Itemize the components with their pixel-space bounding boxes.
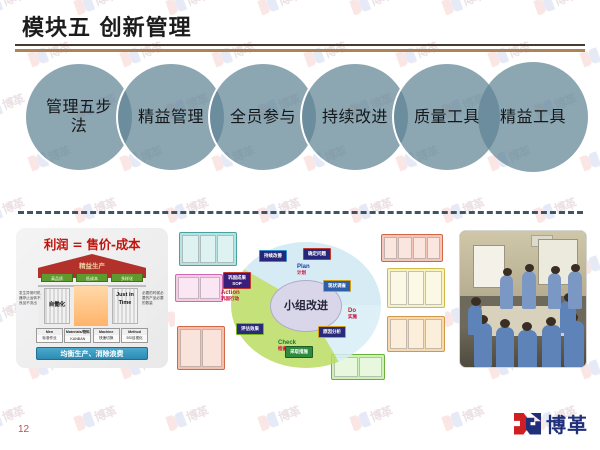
house-pillar-left-label: 自働化 [44, 300, 70, 308]
house-roof-label: 精益生产 [38, 260, 146, 270]
pdca-step-3[interactable]: 原因分析 [318, 326, 346, 338]
photo-person-head [503, 268, 512, 276]
pdca-step-5[interactable]: 评估效果 [236, 323, 264, 335]
watermark-logo: 博革 [348, 190, 403, 225]
house-base-cell-sub: 快速切换 [94, 335, 119, 342]
photo-person-head [525, 264, 534, 272]
topic-circle-6[interactable]: 精益工具 [478, 62, 588, 172]
photo-person [542, 325, 561, 368]
watermark-logo: 博革 [256, 190, 311, 225]
house-base-cell: Machine 快速切换 [93, 328, 120, 343]
topic-circle-label: 精益管理 [134, 108, 208, 127]
house-base-cell: Method 5S/目视化 [121, 328, 148, 343]
watermark-logo: 博革 [256, 398, 311, 433]
pdca-step-1[interactable]: 确定问题 [303, 248, 331, 260]
bg-logo-icon [514, 413, 541, 435]
house-note-left: 发生异常时机器停止运转不良品不流出 [19, 291, 43, 306]
qc-tool-chart-group [175, 274, 223, 302]
house-base-cell-sub: 5S/目视化 [122, 335, 147, 342]
topic-circle-label: 精益工具 [496, 108, 570, 127]
house-base-cell: Materials/物料 KANBAN [64, 328, 91, 343]
watermark-logo: 博革 [72, 190, 127, 225]
watermark-logo: 博革 [164, 398, 219, 433]
topic-circle-row: 管理五步法 精益管理 全员参与 持续改进 质量工具 精益工具 [0, 62, 600, 190]
photo-person-head [500, 319, 510, 328]
team-meeting-photo[interactable] [459, 230, 587, 368]
house-base-cell-sub: 标准作业 [37, 335, 62, 342]
pdca-step-6[interactable]: 巩固成果 SOP [223, 272, 251, 289]
watermark-logo: 博革 [440, 190, 495, 225]
section-divider [18, 211, 583, 214]
photo-person [500, 275, 513, 309]
photo-person-head [571, 264, 580, 272]
house-foundation-cells: Men 标准作业 Materials/物料 KANBAN Machine 快速切… [36, 328, 148, 343]
qc-tool-chart-group [387, 268, 445, 308]
pdca-step-7[interactable]: 持续改善 [259, 250, 287, 262]
house-box-quality: 高品质 [41, 273, 73, 282]
photo-person [468, 305, 482, 335]
photo-person [568, 271, 582, 309]
page-number: 12 [18, 424, 29, 435]
photo-person-head [551, 266, 560, 274]
photo-person [496, 327, 514, 368]
header-rule-tan [15, 49, 585, 52]
qc-tool-chart-group [177, 326, 225, 370]
topic-circle-label: 持续改进 [318, 108, 392, 127]
pdca-step-4[interactable]: 采取措施 [285, 346, 313, 358]
photo-person-head [471, 297, 481, 306]
illustration-row: 利润 = 售价-成本 精益生产 高品质 低成本 多样化 自働化 Just in … [0, 228, 600, 388]
profit-formula: 利润 = 售价-成本 [16, 234, 168, 253]
pdca-phase-cn: 计划 [297, 270, 310, 276]
pdca-phase-action: Action 巩固行动 [221, 290, 240, 302]
watermark-logo: 博革 [532, 190, 587, 225]
header-rule-dark [15, 44, 585, 46]
house-box-cost: 低成本 [76, 273, 108, 282]
qc-tool-chart-group [179, 232, 237, 266]
slide-header: 模块五 创新管理 [0, 0, 600, 58]
house-note-right: 必要的时候必要的产品必要的数量 [142, 291, 166, 306]
lean-production-house-panel[interactable]: 利润 = 售价-成本 精益生产 高品质 低成本 多样化 自働化 Just in … [16, 228, 168, 368]
pdca-phase-plan: Plan 计划 [297, 264, 310, 276]
watermark-logo: 博革 [0, 190, 36, 225]
watermark-logo: 博革 [164, 190, 219, 225]
topic-circle-label: 质量工具 [410, 108, 484, 127]
house-pillar-center-shape [74, 286, 108, 326]
house-base-cell-sub: KANBAN [65, 336, 90, 342]
house-quality-boxes: 高品质 低成本 多样化 [41, 273, 143, 282]
house-base-cell: Men 标准作业 [36, 328, 63, 343]
pdca-phase-cn: 巩固行动 [221, 296, 240, 302]
house-pillar-right-label: Just in Time [112, 291, 138, 308]
watermark-logo: 博革 [348, 398, 403, 433]
house-box-variety: 多样化 [111, 273, 143, 282]
pdca-cycle-panel[interactable]: 小组改进 Plan 计划 Do 实施 Check 检查 Action 巩固行动 … [175, 228, 445, 380]
house-base-cell-title: Materials/物料 [65, 329, 90, 336]
pdca-phase-do: Do 实施 [348, 308, 357, 320]
topic-circle-label: 管理五步法 [42, 98, 116, 135]
photo-person [518, 330, 537, 368]
brand-name: 博革 [546, 409, 588, 438]
watermark-logo: 博革 [72, 398, 127, 433]
topic-circle-label: 全员参与 [226, 108, 300, 127]
pdca-phase-cn: 实施 [348, 314, 357, 320]
photo-person [548, 273, 561, 309]
photo-person [522, 271, 536, 309]
house-foundation-bar: 均衡生产、消除浪费 [36, 347, 148, 360]
qc-tool-chart-group [387, 316, 445, 352]
watermark-logo: 博革 [440, 398, 495, 433]
qc-tool-chart-group [381, 234, 443, 262]
page-title: 模块五 创新管理 [22, 10, 192, 42]
brand-logo: 博革 [514, 409, 588, 438]
pdca-step-2[interactable]: 现状调查 [323, 280, 351, 292]
